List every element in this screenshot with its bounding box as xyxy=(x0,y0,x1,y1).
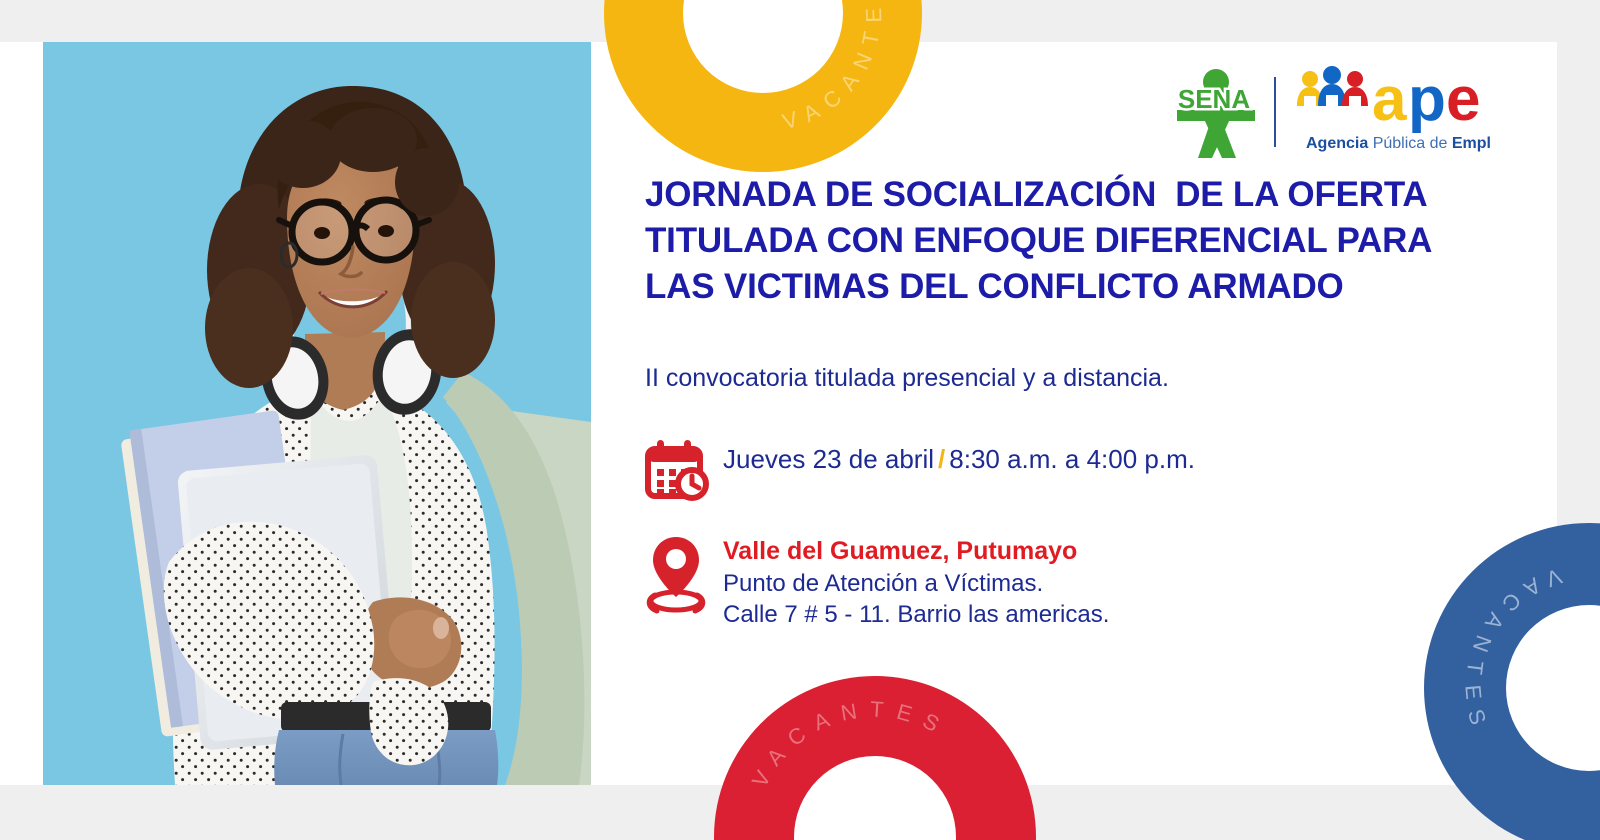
svg-text:VACANTES: VACANTES xyxy=(780,0,887,134)
event-time: 8:30 a.m. a 4:00 p.m. xyxy=(949,444,1195,474)
flyer-canvas: VACANTES VACANTES VACANTES xyxy=(0,0,1600,840)
decorative-ring-red: VACANTES xyxy=(714,676,1036,840)
ape-tagline-regular: Pública de xyxy=(1368,135,1452,152)
content-block: JORNADA DE SOCIALIZACIÓN DE LA OFERTA TI… xyxy=(645,172,1435,630)
map-pin-icon xyxy=(645,533,723,620)
event-date: Jueves 23 de abril xyxy=(723,444,934,474)
ring-yellow-text: VACANTES xyxy=(604,0,922,172)
ring-red-text: VACANTES xyxy=(714,676,1036,840)
sena-logo: SENA xyxy=(1168,66,1260,158)
ape-logo-mark: a p e Agencia Pública de Empleo xyxy=(1294,64,1490,160)
subtitle: II convocatoria titulada presencial y a … xyxy=(645,362,1435,394)
svg-text:VACANTES: VACANTES xyxy=(1460,564,1565,740)
schedule-row: Jueves 23 de abril/8:30 a.m. a 4:00 p.m. xyxy=(645,440,1435,507)
sena-logo-mark: SENA xyxy=(1168,66,1260,158)
sena-wordmark: SENA xyxy=(1178,84,1250,114)
location-line-1: Punto de Atención a Víctimas. xyxy=(723,568,1435,599)
svg-text:a: a xyxy=(1372,65,1407,134)
ape-people-icon xyxy=(1297,66,1368,106)
page-title: JORNADA DE SOCIALIZACIÓN DE LA OFERTA TI… xyxy=(645,172,1435,310)
logo-divider xyxy=(1274,77,1276,147)
logo-bar: SENA a p e xyxy=(1168,62,1488,162)
location-text: Valle del Guamuez, Putumayo Punto de Ate… xyxy=(723,533,1435,630)
location-line-2: Calle 7 # 5 - 11. Barrio las americas. xyxy=(723,599,1435,630)
date-time-separator: / xyxy=(934,444,949,474)
calendar-clock-icon xyxy=(645,440,723,507)
location-title: Valle del Guamuez, Putumayo xyxy=(723,535,1435,568)
ring-blue-text: VACANTES xyxy=(1424,523,1600,840)
ape-tagline-bold-1: Agencia xyxy=(1306,135,1368,152)
svg-text:p: p xyxy=(1408,65,1446,134)
ape-tagline-bold-2: Empleo xyxy=(1452,135,1490,152)
schedule-text: Jueves 23 de abril/8:30 a.m. a 4:00 p.m. xyxy=(723,440,1435,476)
student-photo xyxy=(43,42,591,785)
decorative-ring-blue: VACANTES xyxy=(1424,523,1600,840)
ring-red-label: VACANTES xyxy=(747,696,954,791)
svg-text:VACANTES: VACANTES xyxy=(747,696,954,791)
location-row: Valle del Guamuez, Putumayo Punto de Ate… xyxy=(645,533,1435,630)
student-illustration xyxy=(43,42,591,785)
ape-tagline: Agencia Pública de Empleo xyxy=(1306,135,1490,152)
ape-logo: a p e Agencia Pública de Empleo xyxy=(1294,64,1490,160)
ring-blue-label: VACANTES xyxy=(1460,564,1565,740)
svg-text:e: e xyxy=(1446,65,1480,134)
decorative-ring-yellow: VACANTES xyxy=(604,0,922,172)
ring-yellow-label: VACANTES xyxy=(780,0,887,134)
